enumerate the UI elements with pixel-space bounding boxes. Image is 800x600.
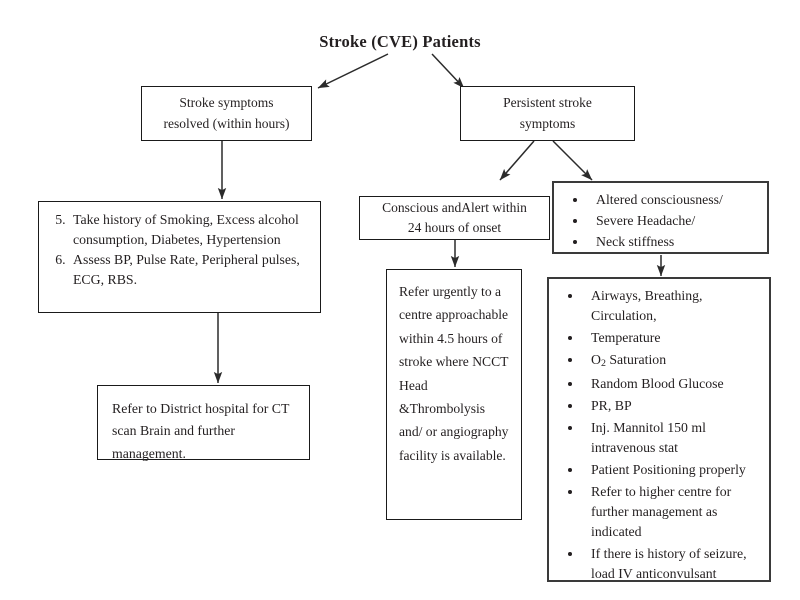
conscious-alert-line1: Conscious andAlert within: [382, 198, 527, 218]
flowchart-canvas: Stroke (CVE) Patients Stroke symptoms re…: [0, 0, 800, 600]
list-item: Airways, Breathing, Circulation,: [583, 286, 761, 326]
node-conscious-alert: Conscious andAlert within 24 hours of on…: [359, 196, 550, 240]
refer-district-text: Refer to District hospital for CT scan B…: [98, 386, 309, 459]
list-item: Severe Headache/: [588, 211, 759, 231]
resolved-symptoms-line1: Stroke symptoms: [179, 93, 273, 113]
node-danger-signs: Altered consciousness/ Severe Headache/ …: [552, 181, 769, 254]
list-item: Take history of Smoking, Excess alcohol …: [69, 210, 310, 249]
arrow-persistent-to-conscious: [500, 141, 534, 180]
node-management: Airways, Breathing, Circulation, Tempera…: [547, 277, 771, 582]
resolved-symptoms-line2: resolved (within hours): [164, 114, 290, 134]
list-item: Patient Positioning properly: [583, 460, 761, 480]
page-title-text: Stroke (CVE) Patients: [319, 32, 481, 51]
node-refer-urgently: Refer urgently to a centre approachable …: [386, 269, 522, 520]
refer-urgently-text: Refer urgently to a centre approachable …: [387, 270, 521, 519]
list-item: If there is history of seizure, load IV …: [583, 544, 761, 584]
list-item: PR, BP: [583, 396, 761, 416]
list-item: Temperature: [583, 328, 761, 348]
conscious-alert-line2: 24 hours of onset: [408, 218, 501, 238]
node-history-assessment: Take history of Smoking, Excess alcohol …: [38, 201, 321, 313]
node-refer-district: Refer to District hospital for CT scan B…: [97, 385, 310, 460]
persistent-symptoms-line1: Persistent stroke: [503, 93, 592, 113]
list-item: Altered consciousness/: [588, 190, 759, 210]
list-item: O2 Saturation: [583, 350, 761, 372]
node-resolved-symptoms: Stroke symptoms resolved (within hours): [141, 86, 312, 141]
history-assessment-list: Take history of Smoking, Excess alcohol …: [39, 202, 320, 298]
node-persistent-symptoms: Persistent stroke symptoms: [460, 86, 635, 141]
page-title: Stroke (CVE) Patients: [0, 32, 800, 52]
list-item: Assess BP, Pulse Rate, Peripheral pulses…: [69, 250, 310, 289]
management-list: Airways, Breathing, Circulation, Tempera…: [549, 279, 769, 593]
list-item: Inj. Mannitol 150 ml intravenous stat: [583, 418, 761, 458]
persistent-symptoms-line2: symptoms: [520, 114, 576, 134]
arrow-persistent-to-danger: [553, 141, 592, 180]
list-item: Refer to higher centre for further manag…: [583, 482, 761, 542]
danger-signs-list: Altered consciousness/ Severe Headache/ …: [554, 183, 767, 260]
list-item: Random Blood Glucose: [583, 374, 761, 394]
list-item: Neck stiffness: [588, 232, 759, 252]
arrow-title-to-resolved: [318, 54, 388, 88]
arrow-title-to-persistent: [432, 54, 464, 88]
